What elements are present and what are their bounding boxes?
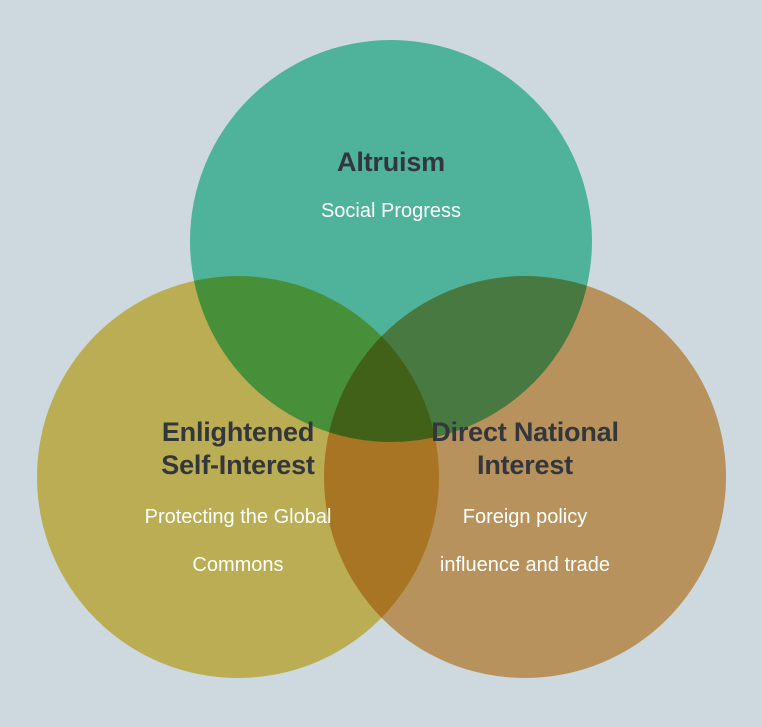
circle-direct-national-interest[interactable] [324, 276, 726, 678]
venn-diagram: Altruism Social Progress Enlightened Sel… [0, 0, 762, 727]
venn-circles-svg [0, 0, 762, 727]
